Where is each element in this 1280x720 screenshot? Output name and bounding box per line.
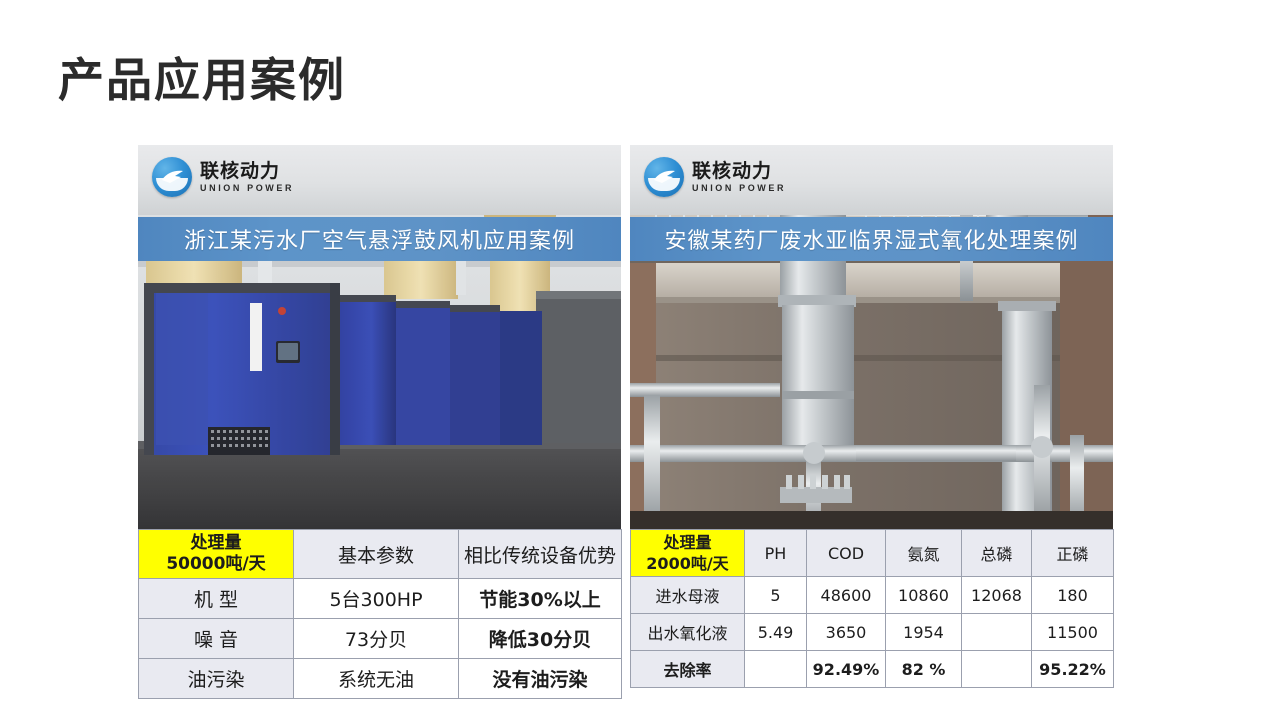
swoosh-icon <box>161 169 184 185</box>
brand-name-cn: 联核动力 <box>200 162 294 181</box>
removal-cod: 92.49% <box>807 651 886 688</box>
row-label-oil: 油污染 <box>139 659 294 699</box>
case-photo-right: 联核动力 UNION POWER 安徽某药厂废水亚临界湿式氧化处理案例 <box>630 145 1113 529</box>
case-panel-left: 联核动力 UNION POWER 浙江某污水厂空气悬浮鼓风机应用案例 处理量 5… <box>138 145 621 699</box>
row-advantage-model: 节能30%以上 <box>459 579 622 619</box>
effluent-tp <box>962 614 1032 651</box>
union-power-emblem-icon <box>644 157 684 197</box>
row-label-influent: 进水母液 <box>631 577 745 614</box>
influent-cod: 48600 <box>807 577 886 614</box>
brand-logo-left: 联核动力 UNION POWER <box>152 157 294 197</box>
table-row: 进水母液 5 48600 10860 12068 180 <box>631 577 1114 614</box>
brand-name-cn: 联核动力 <box>692 162 786 181</box>
case-banner-left: 浙江某污水厂空气悬浮鼓风机应用案例 <box>138 217 621 261</box>
case-banner-right: 安徽某药厂废水亚临界湿式氧化处理案例 <box>630 217 1113 261</box>
row-advantage-noise: 降低30分贝 <box>459 619 622 659</box>
influent-ph: 5 <box>745 577 807 614</box>
capacity-label: 处理量 <box>191 533 242 553</box>
col-header-basic-params: 基本参数 <box>294 530 459 579</box>
brand-logo-right: 联核动力 UNION POWER <box>644 157 786 197</box>
row-advantage-oil: 没有油污染 <box>459 659 622 699</box>
table-row: 油污染 系统无油 没有油污染 <box>139 659 622 699</box>
capacity-header-left: 处理量 50000吨/天 <box>139 530 294 579</box>
table-row: 处理量 2000吨/天 PH COD 氨氮 总磷 正磷 <box>631 530 1114 577</box>
influent-op: 180 <box>1032 577 1114 614</box>
row-value-model: 5台300HP <box>294 579 459 619</box>
table-row: 处理量 50000吨/天 基本参数 相比传统设备优势 <box>139 530 622 579</box>
table-row: 去除率 92.49% 82 % 95.22% <box>631 651 1114 688</box>
brand-text-right: 联核动力 UNION POWER <box>692 162 786 193</box>
swoosh-icon <box>653 169 676 185</box>
brand-name-en: UNION POWER <box>200 184 294 193</box>
row-label-model: 机 型 <box>139 579 294 619</box>
influent-tp: 12068 <box>962 577 1032 614</box>
capacity-label: 处理量 <box>663 533 711 552</box>
brand-text-left: 联核动力 UNION POWER <box>200 162 294 193</box>
capacity-value: 50000吨/天 <box>166 554 265 574</box>
effluent-ph: 5.49 <box>745 614 807 651</box>
table-row: 机 型 5台300HP 节能30%以上 <box>139 579 622 619</box>
effluent-cod: 3650 <box>807 614 886 651</box>
page-title: 产品应用案例 <box>58 52 346 108</box>
removal-op: 95.22% <box>1032 651 1114 688</box>
table-row: 出水氧化液 5.49 3650 1954 11500 <box>631 614 1114 651</box>
removal-nh3n: 82 % <box>886 651 962 688</box>
table-row: 噪 音 73分贝 降低30分贝 <box>139 619 622 659</box>
capacity-value: 2000吨/天 <box>646 554 728 573</box>
removal-tp <box>962 651 1032 688</box>
col-header-nh3n: 氨氮 <box>886 530 962 577</box>
row-label-removal-rate: 去除率 <box>631 651 745 688</box>
effluent-nh3n: 1954 <box>886 614 962 651</box>
col-header-op: 正磷 <box>1032 530 1114 577</box>
removal-ph <box>745 651 807 688</box>
spec-table-left: 处理量 50000吨/天 基本参数 相比传统设备优势 机 型 5台300HP 节… <box>138 529 622 699</box>
influent-nh3n: 10860 <box>886 577 962 614</box>
col-header-ph: PH <box>745 530 807 577</box>
col-header-tp: 总磷 <box>962 530 1032 577</box>
row-label-effluent: 出水氧化液 <box>631 614 745 651</box>
row-value-noise: 73分贝 <box>294 619 459 659</box>
spec-table-right: 处理量 2000吨/天 PH COD 氨氮 总磷 正磷 进水母液 5 48600… <box>630 529 1114 688</box>
union-power-emblem-icon <box>152 157 192 197</box>
case-panel-right: 联核动力 UNION POWER 安徽某药厂废水亚临界湿式氧化处理案例 处理量 … <box>630 145 1113 688</box>
brand-name-en: UNION POWER <box>692 184 786 193</box>
row-value-oil: 系统无油 <box>294 659 459 699</box>
col-header-advantage: 相比传统设备优势 <box>459 530 622 579</box>
case-photo-left: 联核动力 UNION POWER 浙江某污水厂空气悬浮鼓风机应用案例 <box>138 145 621 529</box>
row-label-noise: 噪 音 <box>139 619 294 659</box>
slide-root: 产品应用案例 <box>0 0 1280 720</box>
capacity-header-right: 处理量 2000吨/天 <box>631 530 745 577</box>
case-banner-right-text: 安徽某药厂废水亚临界湿式氧化处理案例 <box>664 223 1078 255</box>
case-banner-left-text: 浙江某污水厂空气悬浮鼓风机应用案例 <box>184 223 575 255</box>
col-header-cod: COD <box>807 530 886 577</box>
effluent-op: 11500 <box>1032 614 1114 651</box>
